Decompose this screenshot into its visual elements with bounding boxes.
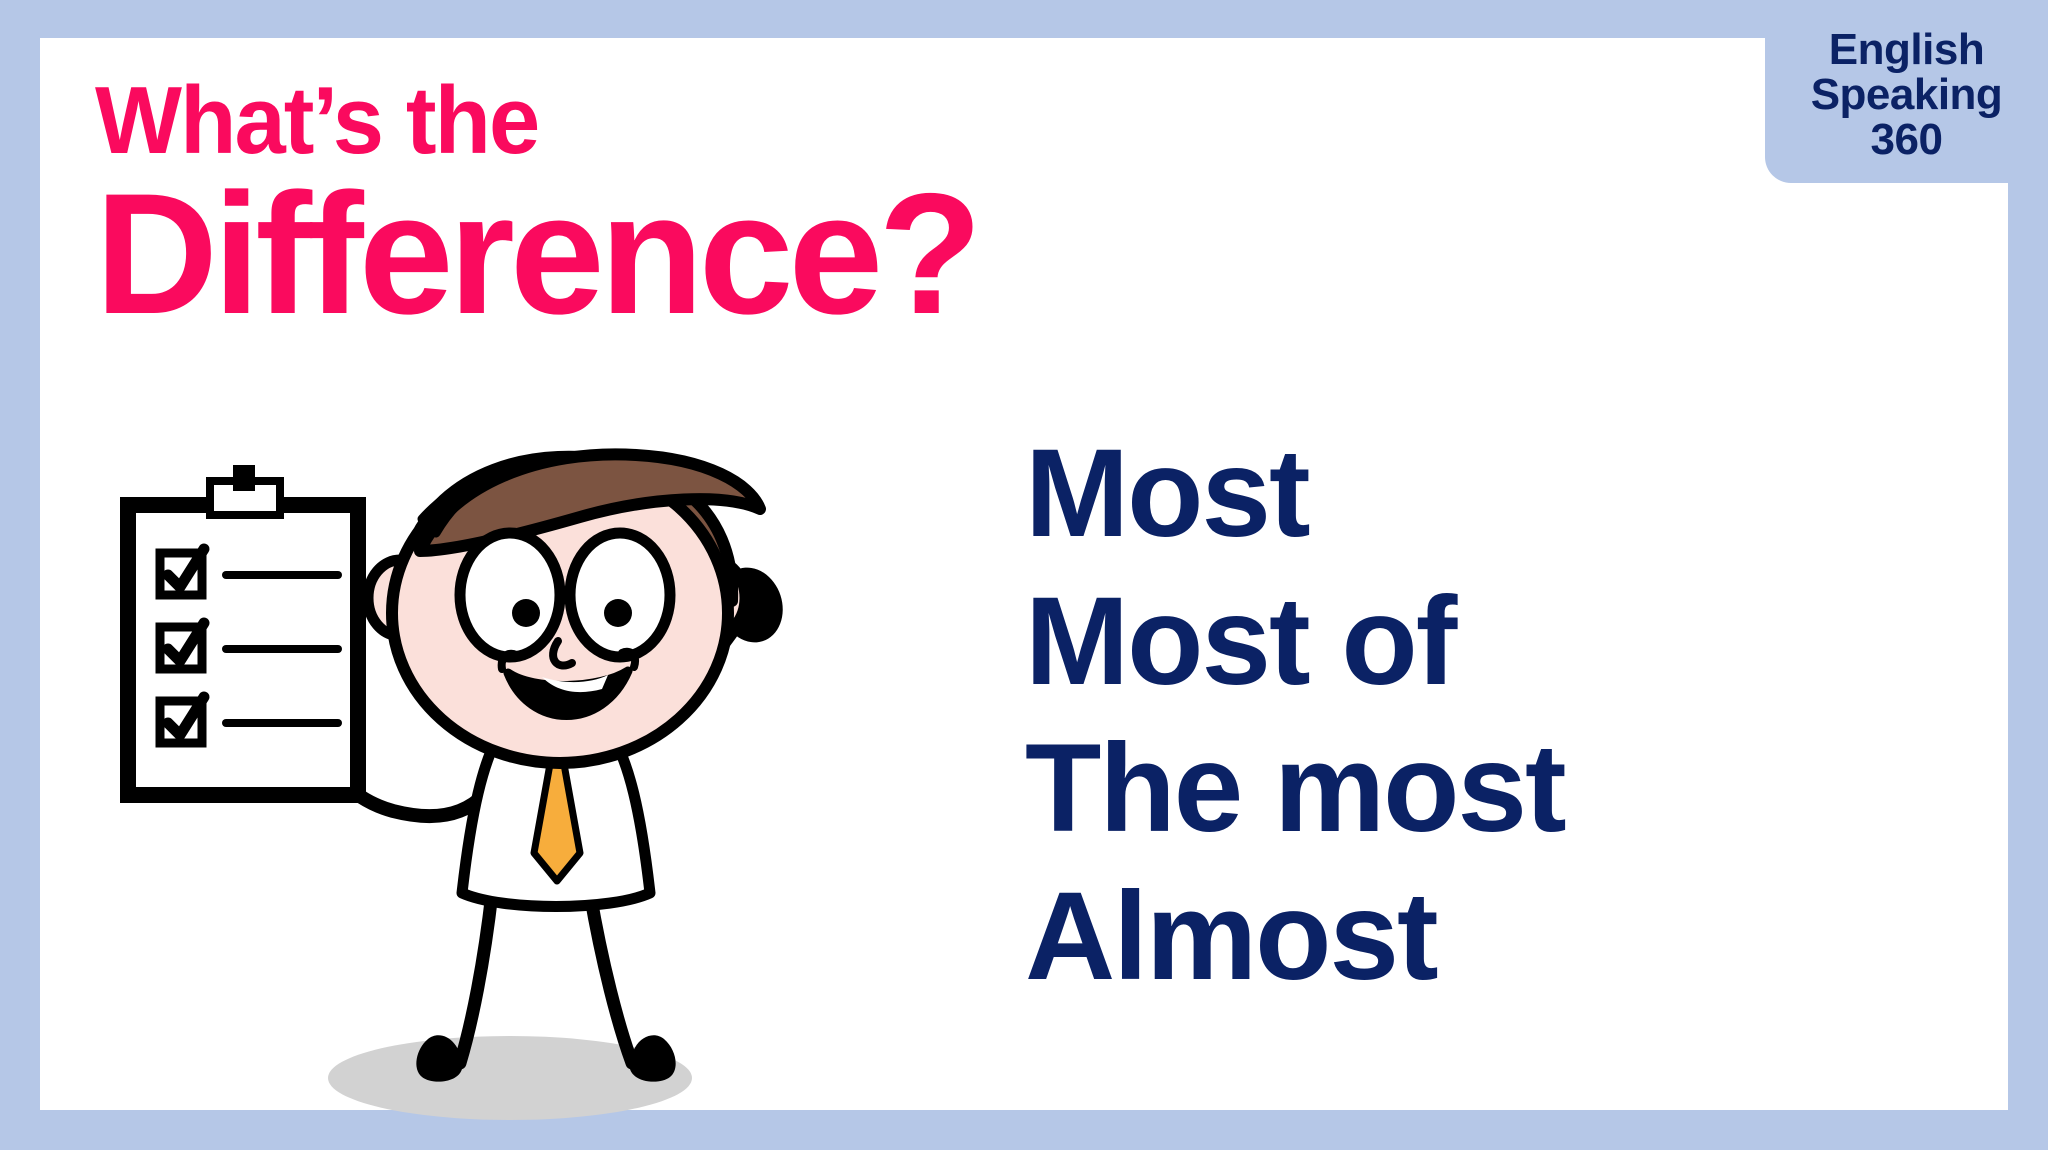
brand-badge-line-3: 360 bbox=[1871, 117, 1943, 162]
list-item: Almost bbox=[1025, 863, 1565, 1011]
white-content-card: What’s the Difference? bbox=[40, 38, 2008, 1110]
right-eye-icon bbox=[570, 533, 670, 657]
right-leg-icon bbox=[590, 893, 632, 1063]
clipboard-clip-top bbox=[233, 465, 255, 491]
page-title: What’s the Difference? bbox=[95, 74, 986, 339]
list-item: Most bbox=[1025, 420, 1565, 568]
left-eye-icon bbox=[460, 533, 560, 657]
list-item: Most of bbox=[1025, 568, 1565, 716]
cartoon-man-with-clipboard-illustration bbox=[110, 423, 810, 1133]
right-shoe-icon bbox=[630, 1035, 676, 1081]
slide-canvas: What’s the Difference? bbox=[0, 0, 2048, 1150]
left-pupil-icon bbox=[512, 599, 540, 627]
title-line-2: Difference? bbox=[95, 170, 977, 339]
list-item: The most bbox=[1025, 715, 1565, 863]
brand-badge-line-2: Speaking bbox=[1811, 72, 2003, 117]
clipboard-checklist-icon bbox=[128, 465, 358, 795]
comparison-word-list: Most Most of The most Almost bbox=[1025, 420, 1565, 1010]
title-line-1: What’s the bbox=[95, 74, 951, 168]
brand-badge-line-1: English bbox=[1829, 27, 1984, 72]
right-pupil-icon bbox=[604, 599, 632, 627]
brand-badge: English Speaking 360 bbox=[1765, 0, 2048, 183]
